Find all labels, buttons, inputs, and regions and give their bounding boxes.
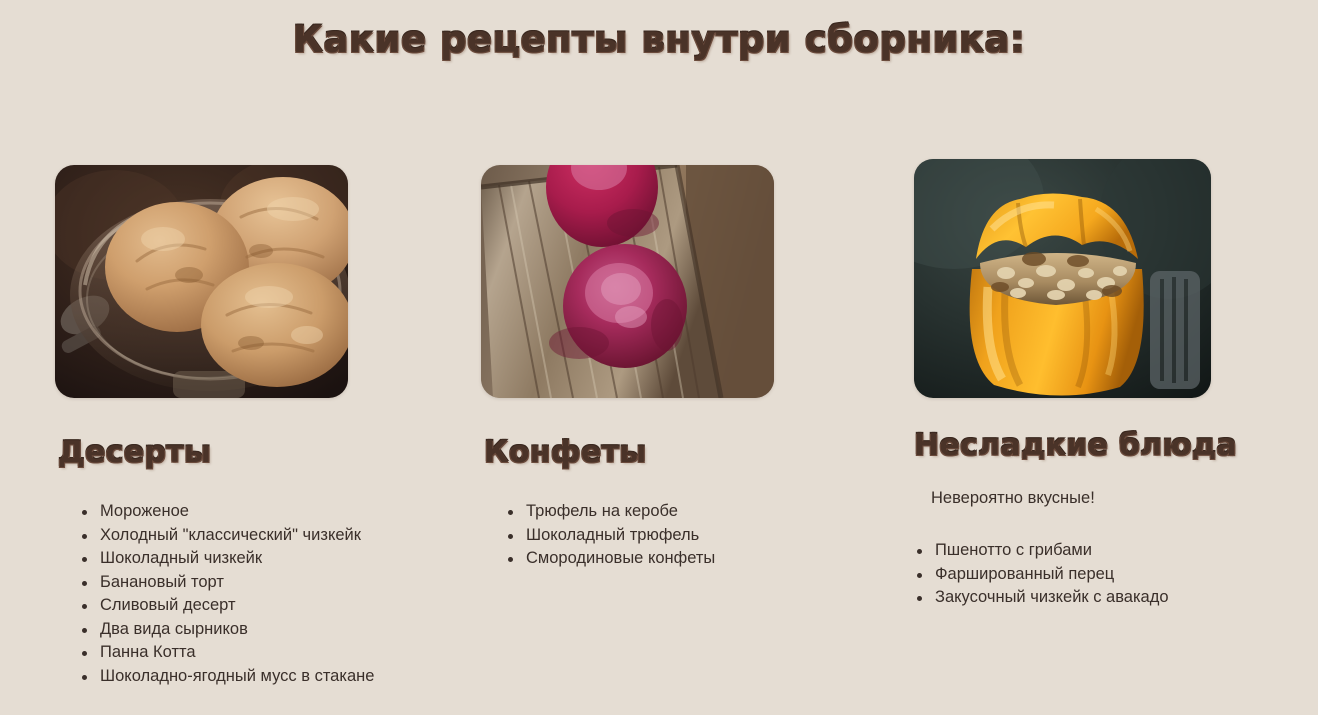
recipe-list-desserts: Мороженое Холодный "классический" чизкей… xyxy=(79,500,374,688)
recipe-list-savory: Пшенотто с грибами Фаршированный перец З… xyxy=(914,539,1169,610)
list-item: Холодный "классический" чизкейк xyxy=(79,524,374,548)
category-heading-savory: Несладкие блюда xyxy=(914,428,1237,463)
list-item: Пшенотто с грибами xyxy=(914,539,1169,563)
list-item: Шоколадный чизкейк xyxy=(79,547,374,571)
list-item: Панна Котта xyxy=(79,641,374,665)
savory-intro-text: Невероятно вкусные! xyxy=(931,489,1095,508)
stuffed-pepper-photo xyxy=(914,159,1211,398)
recipe-columns: Десерты Мороженое Холодный "классический… xyxy=(0,0,1318,715)
list-item: Банановый торт xyxy=(79,571,374,595)
berry-truffles-photo xyxy=(481,165,774,398)
list-item: Фаршированный перец xyxy=(914,563,1169,587)
list-item: Трюфель на керобе xyxy=(505,500,715,524)
list-item: Мороженое xyxy=(79,500,374,524)
list-item: Два вида сырников xyxy=(79,618,374,642)
category-heading-desserts: Десерты xyxy=(58,435,211,470)
list-item: Шоколадный трюфель xyxy=(505,524,715,548)
list-item: Сливовый десерт xyxy=(79,594,374,618)
list-item: Закусочный чизкейк с авакадо xyxy=(914,586,1169,610)
list-item: Смородиновые конфеты xyxy=(505,547,715,571)
category-heading-candies: Конфеты xyxy=(484,435,647,470)
recipe-list-candies: Трюфель на керобе Шоколадный трюфель Смо… xyxy=(505,500,715,571)
list-item: Шоколадно-ягодный мусс в стакане xyxy=(79,665,374,689)
ice-cream-bowl-photo xyxy=(55,165,348,398)
